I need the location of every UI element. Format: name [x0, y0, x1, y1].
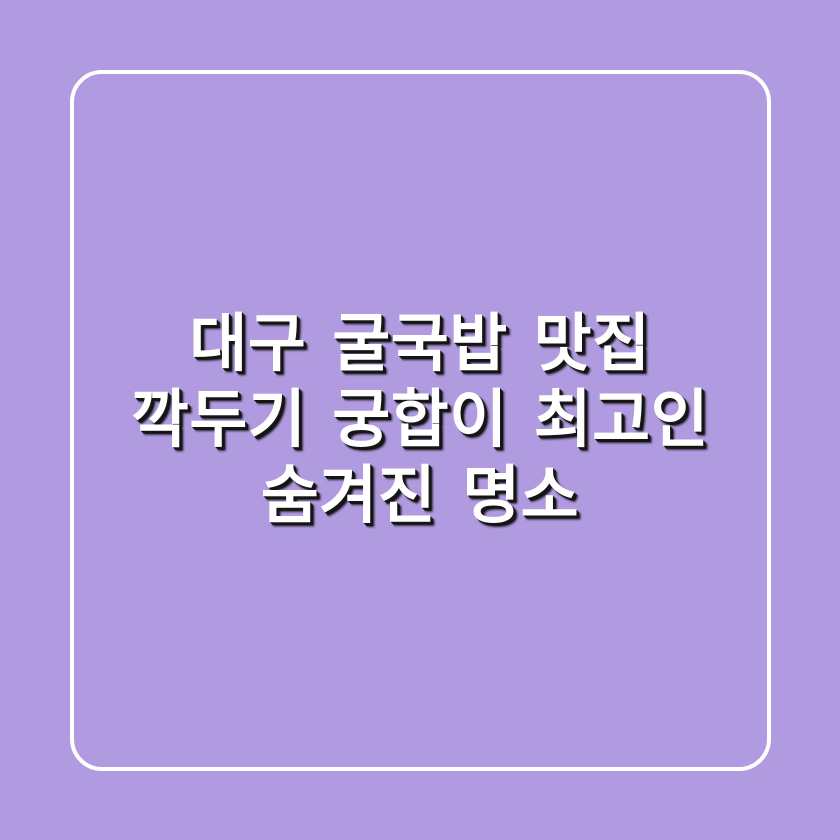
title-line-2: 깍두기 궁합이 최고인	[80, 382, 760, 458]
thumbnail-card: 대구 굴국밥 맛집 깍두기 궁합이 최고인 숨겨진 명소	[0, 0, 840, 840]
title-line-1: 대구 굴국밥 맛집	[80, 306, 760, 382]
title-line-3: 숨겨진 명소	[80, 458, 760, 534]
title-block: 대구 굴국밥 맛집 깍두기 궁합이 최고인 숨겨진 명소	[0, 0, 840, 840]
